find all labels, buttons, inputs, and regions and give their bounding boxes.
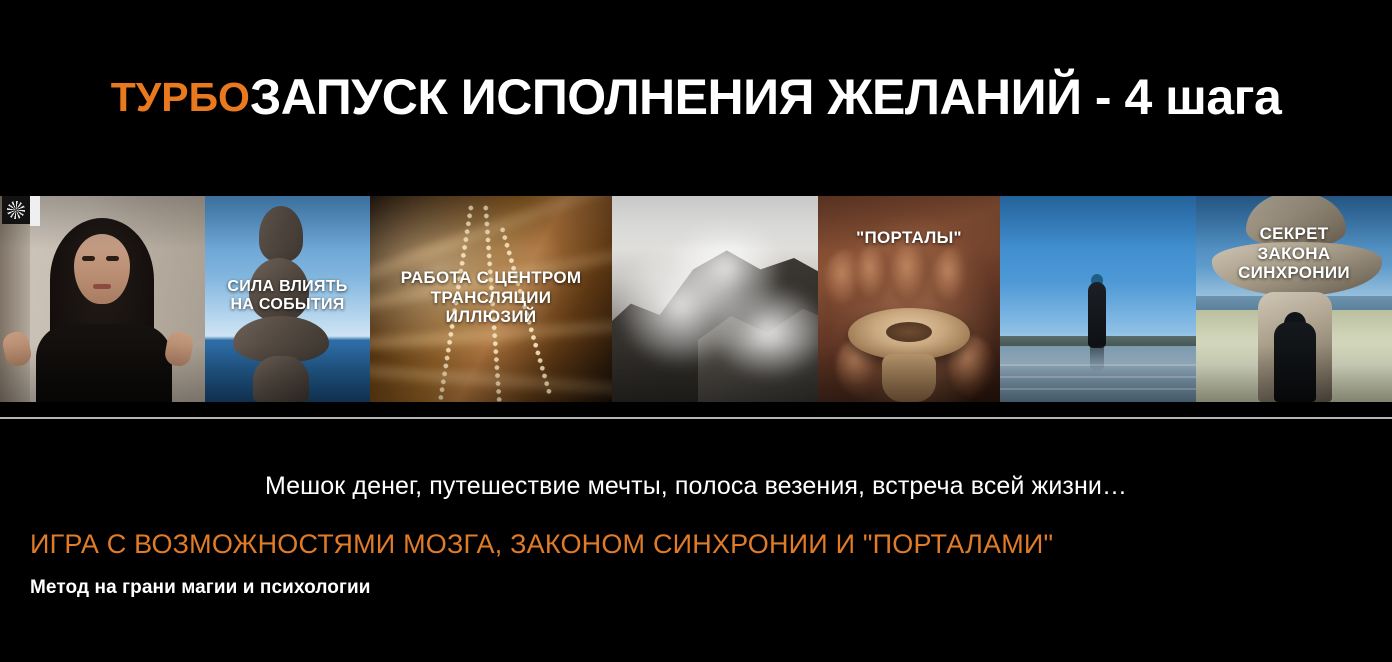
- title-main-text: ЗАПУСК ИСПОЛНЕНИЯ ЖЕЛАНИЙ - 4 шага: [250, 72, 1281, 122]
- panel-vignette: [0, 196, 205, 402]
- caption-line-2: НА СОБЫТИЯ: [209, 296, 366, 314]
- panel-caption-illusion: РАБОТА С ЦЕНТРОМ ТРАНСЛЯЦИИ ИЛЛЮЗИЙ: [370, 268, 612, 327]
- caption-line-3: ИЛЛЮЗИЙ: [374, 307, 608, 327]
- panel-walking-on-water[interactable]: [1000, 196, 1196, 402]
- panel-illusion-broadcast-center[interactable]: РАБОТА С ЦЕНТРОМ ТРАНСЛЯЦИИ ИЛЛЮЗИЙ: [370, 196, 612, 402]
- panel-vignette: [1000, 196, 1196, 402]
- lesson-thumbnail-strip: СИЛА ВЛИЯТЬ НА СОБЫТИЯ РАБОТА С ЦЕНТРОМ …: [0, 196, 1392, 402]
- horizontal-divider: [0, 417, 1392, 419]
- title-accent-word: ТУРБО: [111, 77, 250, 118]
- panel-power-to-influence[interactable]: СИЛА ВЛИЯТЬ НА СОБЫТИЯ: [205, 196, 370, 402]
- watermark-logo-icon: [2, 196, 30, 224]
- caption-line-3: СИНХРОНИИ: [1200, 263, 1388, 283]
- panel-caption-portals: "ПОРТАЛЫ": [818, 228, 1000, 248]
- watermark-edge: [30, 196, 40, 226]
- panel-caption-power: СИЛА ВЛИЯТЬ НА СОБЫТИЯ: [205, 278, 370, 315]
- caption-line-1: "ПОРТАЛЫ": [822, 228, 996, 248]
- caption-line-2: ТРАНСЛЯЦИИ: [374, 288, 608, 308]
- headline-text: ИГРА С ВОЗМОЖНОСТЯМИ МОЗГА, ЗАКОНОМ СИНХ…: [30, 529, 1053, 560]
- panel-speaker-video[interactable]: [0, 196, 205, 402]
- panel-portals[interactable]: "ПОРТАЛЫ": [818, 196, 1000, 402]
- tagline-text: Мешок денег, путешествие мечты, полоса в…: [0, 472, 1392, 501]
- caption-line-1: СИЛА ВЛИЯТЬ: [209, 278, 366, 296]
- caption-line-1: СЕКРЕТ: [1200, 224, 1388, 244]
- panel-smoking-rocks[interactable]: [612, 196, 818, 402]
- panel-synchrony-law-secret[interactable]: СЕКРЕТ ЗАКОНА СИНХРОНИИ: [1196, 196, 1392, 402]
- panel-caption-synchrony: СЕКРЕТ ЗАКОНА СИНХРОНИИ: [1196, 224, 1392, 283]
- promo-slide: ТУРБОЗАПУСК ИСПОЛНЕНИЯ ЖЕЛАНИЙ - 4 шага: [0, 0, 1392, 662]
- caption-line-1: РАБОТА С ЦЕНТРОМ: [374, 268, 608, 288]
- slide-title: ТУРБОЗАПУСК ИСПОЛНЕНИЯ ЖЕЛАНИЙ - 4 шага: [0, 62, 1392, 132]
- subline-text: Метод на грани магии и психологии: [30, 577, 371, 599]
- caption-line-2: ЗАКОНА: [1200, 244, 1388, 264]
- panel-vignette: [612, 196, 818, 402]
- panel-vignette: [818, 196, 1000, 402]
